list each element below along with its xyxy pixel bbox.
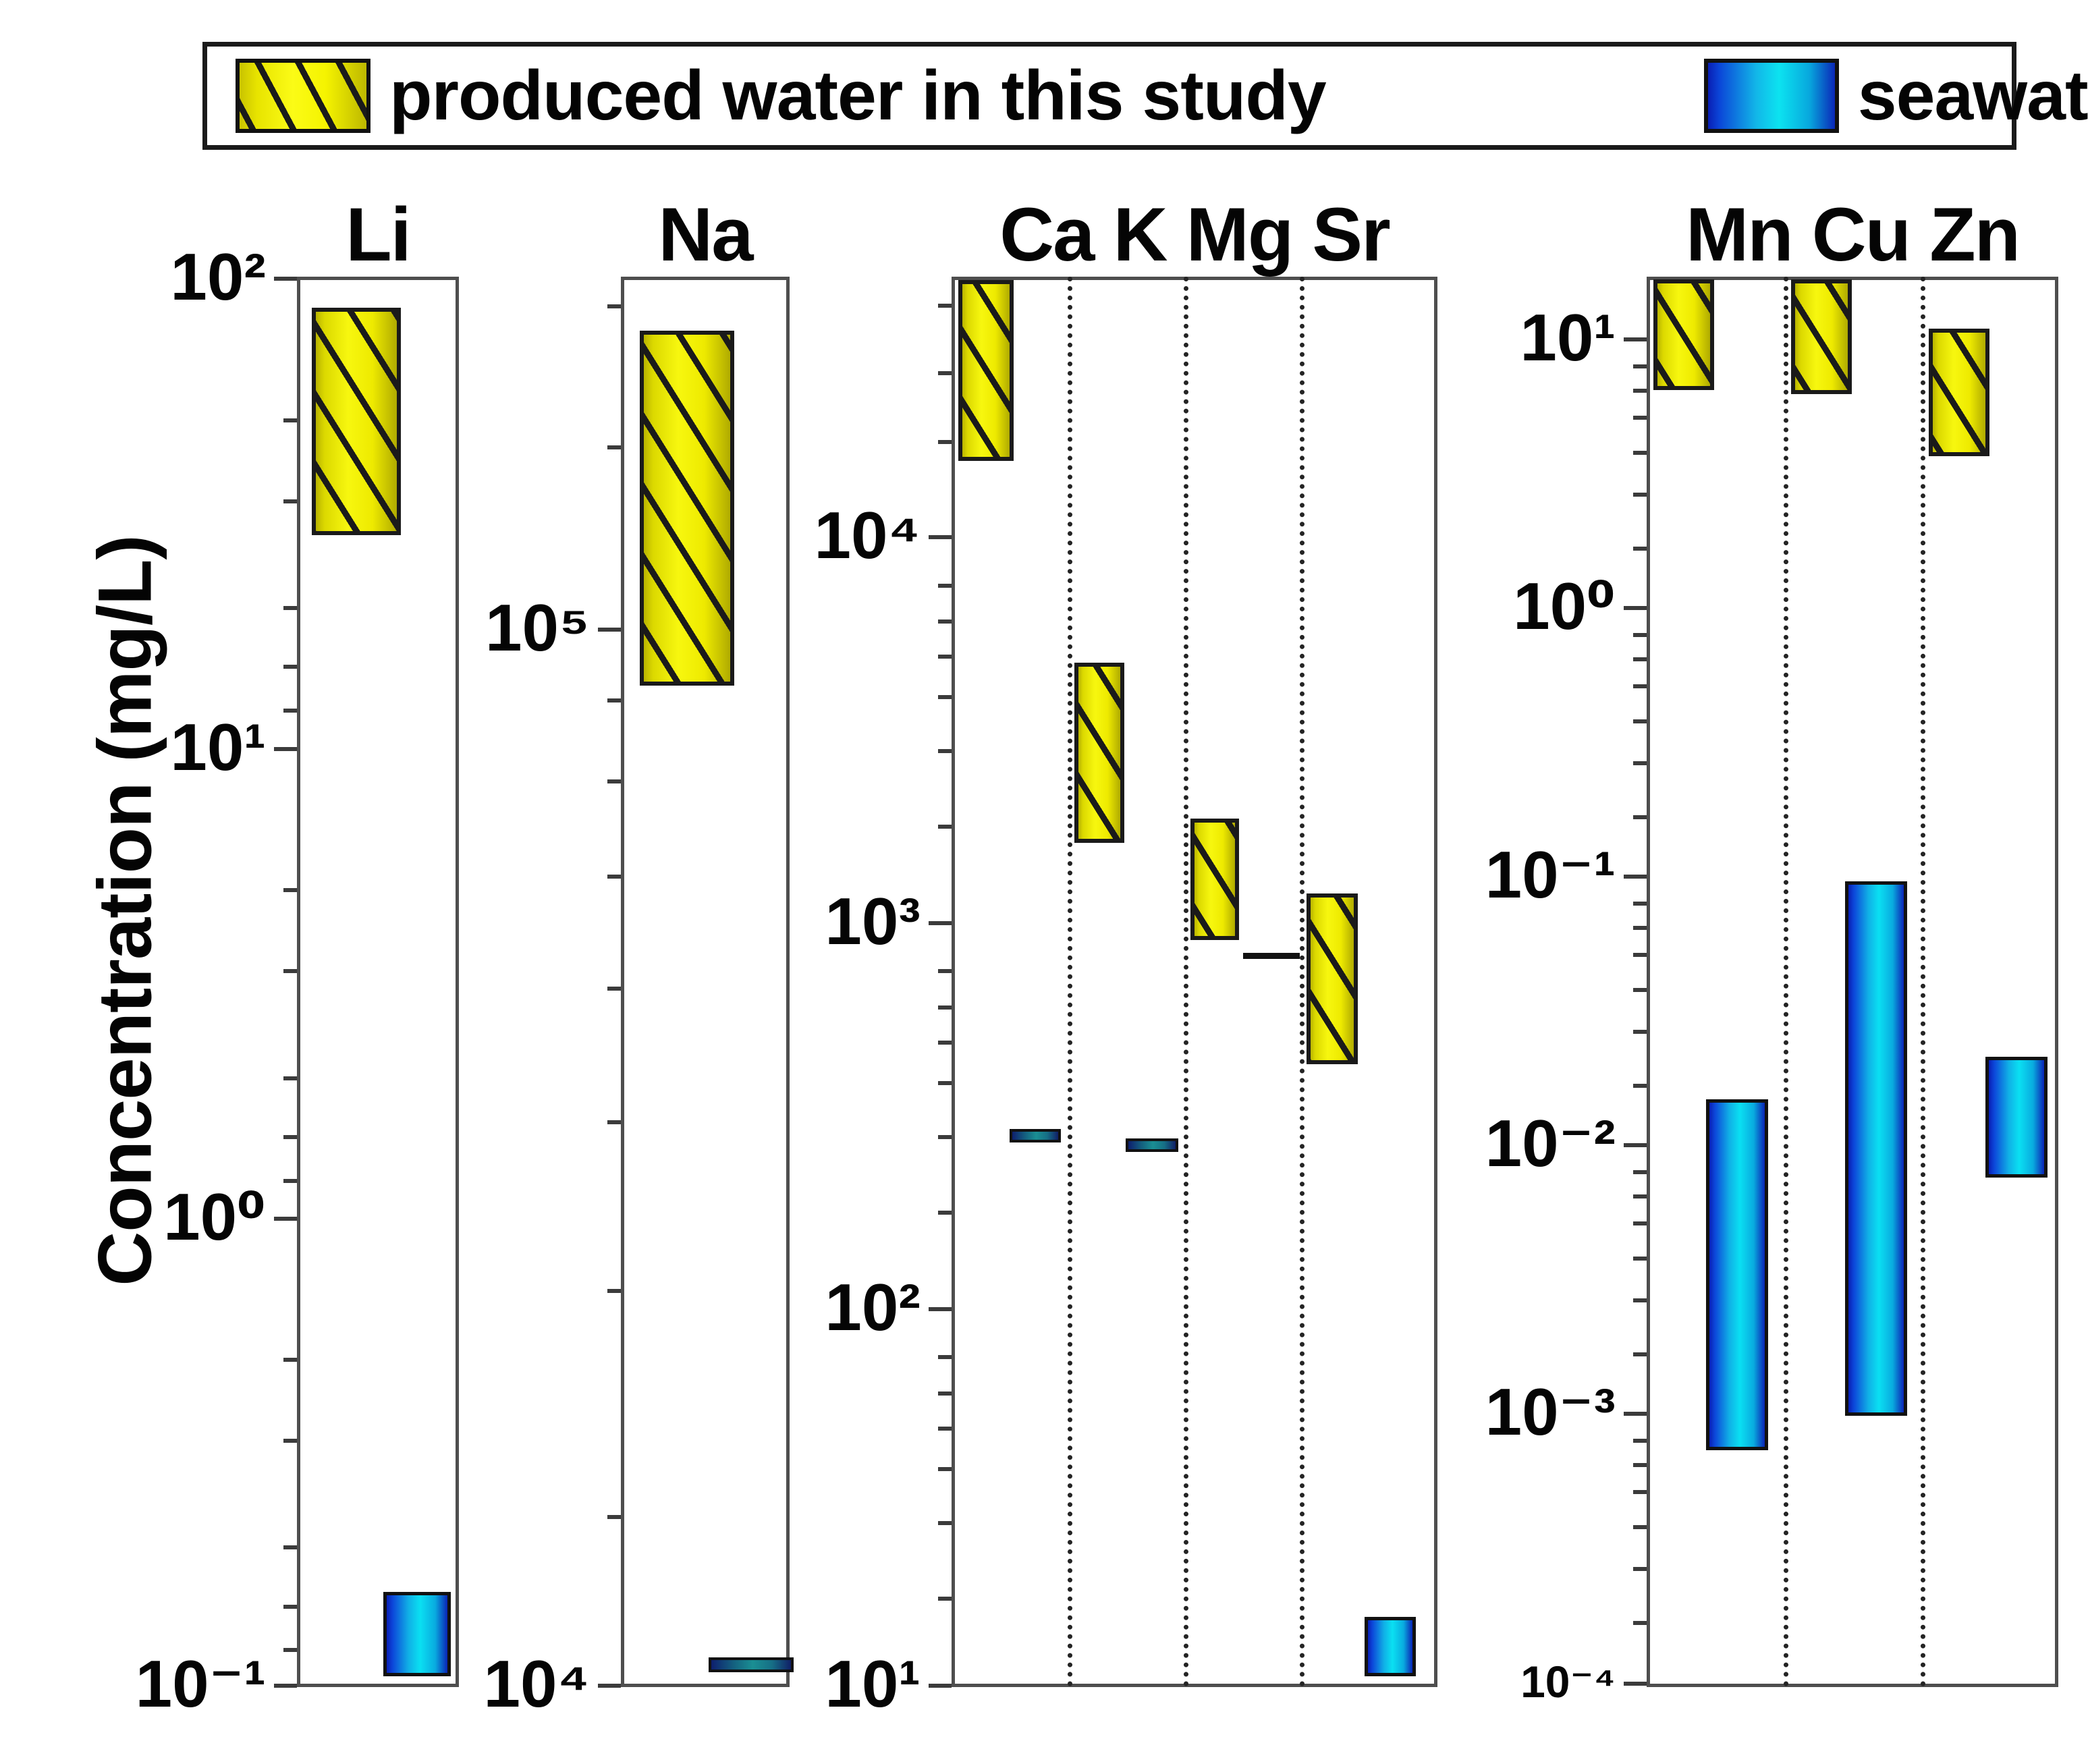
y-tick-minor [607,875,621,879]
y-tick-minor [938,749,952,753]
y-ticklabel: 10⁴ [815,502,921,568]
y-tick-minor [1633,988,1647,992]
y-tick-major [929,921,952,925]
y-tick-minor [283,1358,297,1362]
y-ticklabel: 10¹ [170,714,266,780]
panel-divider-cu-zn [1921,277,1925,1687]
y-ticklabel: 10⁰ [1513,573,1616,639]
y-tick-minor [1633,1194,1647,1198]
y-tick-minor [1633,761,1647,765]
bar-produced-water-li [312,308,401,535]
y-tick-minor [938,1041,952,1045]
y-tick-major [274,1684,297,1688]
y-tick-minor [938,1467,952,1471]
panel-divider-ca-k [1068,277,1072,1687]
legend-swatch-produced-water [236,59,370,133]
y-tick-minor [1633,1170,1647,1174]
y-tick-minor [938,1521,952,1525]
y-tick-major [1624,337,1647,341]
y-tick-minor [938,1081,952,1085]
y-tick-major [1624,1143,1647,1147]
y-tick-minor [1633,1352,1647,1356]
y-tick-minor [938,440,952,444]
y-tick-major [1624,1682,1647,1686]
y-tick-minor [1633,1567,1647,1571]
y-tick-minor [283,1179,297,1183]
y-tick-minor [1633,1030,1647,1034]
legend-entry-seawater: seawater [1704,59,2088,133]
panel-divider-mn-cu [1784,277,1788,1687]
y-tick-minor [607,779,621,783]
y-ticklabel: 10¹ [1520,304,1616,370]
y-ticklabel: 10⁻² [1485,1110,1616,1176]
panel-title-mn-cu-zn: Mn Cu Zn [1647,197,2058,273]
y-tick-minor [1633,926,1647,930]
y-tick-major [598,1684,621,1688]
y-tick-minor [1633,815,1647,819]
y-tick-minor [1633,657,1647,661]
y-tick-minor [1633,1621,1647,1625]
bar-produced-water-zn [1929,329,1989,456]
y-tick-minor [1633,416,1647,420]
y-tick-major [1624,606,1647,610]
y-tick-minor [938,655,952,659]
panel-title-na: Na [621,197,790,273]
bar-produced-water-sr [1307,893,1358,1064]
y-tick-minor [1633,451,1647,455]
y-ticklabel: 10⁴ [484,1651,590,1717]
y-tick-minor [1633,389,1647,393]
y-tick-minor [1633,1257,1647,1261]
y-ticklabel: 10¹ [825,1651,921,1717]
y-tick-minor [1633,364,1647,368]
panel-li: Li 10² 10¹ 10⁰ 10⁻¹ [297,277,459,1687]
y-ticklabel: 10⁻³ [1485,1379,1616,1445]
y-tick-minor [283,1648,297,1652]
y-tick-minor [938,1355,952,1359]
y-tick-minor [938,1005,952,1010]
panel-title-li: Li [297,197,459,273]
legend-entry-produced-water: produced water in this study [236,59,1326,133]
legend-swatch-seawater [1704,59,1839,133]
y-tick-minor [607,1289,621,1293]
y-tick-major [274,747,297,751]
legend-label-seawater: seawater [1858,61,2088,131]
y-tick-minor [283,888,297,892]
y-tick-minor [607,698,621,702]
y-tick-minor [1633,1084,1647,1088]
y-tick-minor [1633,493,1647,497]
bar-seawater-li [383,1592,451,1676]
y-tick-minor [938,1211,952,1215]
y-tick-minor [1633,1298,1647,1302]
y-tick-minor [1633,684,1647,688]
y-tick-minor [283,606,297,610]
y-tick-minor [938,1427,952,1431]
panel-title-ca-k-mg-sr: Ca K Mg Sr [952,197,1437,273]
y-ticklabel: 10² [170,244,266,310]
y-tick-minor [1633,1525,1647,1529]
y-tick-minor [938,1597,952,1601]
bar-seawater-mn [1706,1099,1768,1450]
bar-seawater-ca [1010,1129,1061,1142]
legend-label-produced-water: produced water in this study [389,61,1326,131]
y-tick-minor [283,418,297,422]
bar-seawater-zn [1985,1057,2048,1178]
y-tick-minor [938,371,952,375]
y-ticklabel: 10⁰ [163,1184,266,1250]
bar-seawater-mg [1243,953,1300,959]
y-tick-minor [1633,1490,1647,1494]
y-tick-minor [1633,902,1647,906]
y-tick-minor [1633,547,1647,551]
y-tick-minor [607,987,621,991]
y-ticklabel: 10⁻¹ [136,1651,266,1717]
y-tick-major [929,1307,952,1311]
y-tick-minor [938,304,952,308]
bar-produced-water-mg [1190,819,1239,940]
y-tick-minor [938,969,952,973]
y-tick-minor [283,665,297,669]
y-ticklabel: 10³ [825,888,921,954]
y-tick-minor [938,1391,952,1396]
panel-mn-cu-zn: Mn Cu Zn 10¹ 10⁰ 10⁻¹ 10⁻² 10⁻³ 10⁻⁴ [1647,277,2058,1687]
y-tick-minor [283,1439,297,1443]
y-axis-title: Concentration (mg/L) [82,439,169,1383]
y-tick-minor [607,1120,621,1124]
bar-produced-water-cu [1791,279,1852,394]
bar-seawater-k [1126,1138,1178,1152]
y-tick-major [929,1684,952,1688]
y-tick-major [929,535,952,539]
panel-na: Na 10⁵ 10⁴ [621,277,790,1687]
y-ticklabel: 10⁻¹ [1485,842,1616,908]
y-tick-major [274,1217,297,1221]
y-tick-minor [1633,1221,1647,1225]
y-tick-major [1624,875,1647,879]
bar-seawater-sr [1365,1617,1416,1676]
bar-seawater-na [709,1657,794,1672]
y-tick-minor [1633,719,1647,723]
y-tick-minor [283,1076,297,1080]
y-tick-minor [1633,953,1647,957]
bar-seawater-cu [1845,881,1907,1416]
y-tick-minor [283,1605,297,1609]
y-tick-minor [283,969,297,973]
y-tick-minor [607,1515,621,1519]
y-tick-minor [283,499,297,503]
y-tick-minor [283,1545,297,1549]
y-tick-major [1624,1412,1647,1416]
y-tick-minor [938,695,952,699]
panel-ca-k-mg-sr: Ca K Mg Sr 10⁴ 10³ 10² 10¹ [952,277,1437,1687]
y-tick-minor [1633,633,1647,637]
bar-produced-water-mn [1653,279,1714,390]
y-tick-minor [283,709,297,713]
y-tick-minor [607,304,621,308]
panel-divider-mg-sr [1300,277,1304,1687]
panel-frame-ca-k-mg-sr [952,277,1437,1687]
y-tick-major [274,277,297,281]
y-tick-minor [938,584,952,588]
y-tick-minor [938,619,952,624]
panel-divider-k-mg [1184,277,1188,1687]
y-ticklabel: 10⁻⁴ [1520,1659,1616,1704]
y-tick-minor [1633,1463,1647,1467]
y-tick-major [598,628,621,632]
chart-legend: produced water in this study seawater [202,42,2016,150]
y-tick-minor [938,1135,952,1139]
bar-produced-water-na [640,331,734,686]
y-tick-minor [938,825,952,829]
y-tick-minor [1633,1439,1647,1443]
y-tick-minor [283,1135,297,1139]
bar-produced-water-ca [958,280,1014,461]
y-ticklabel: 10⁵ [485,595,590,661]
bar-produced-water-k [1074,663,1124,843]
y-ticklabel: 10² [825,1274,921,1340]
y-tick-minor [607,445,621,449]
